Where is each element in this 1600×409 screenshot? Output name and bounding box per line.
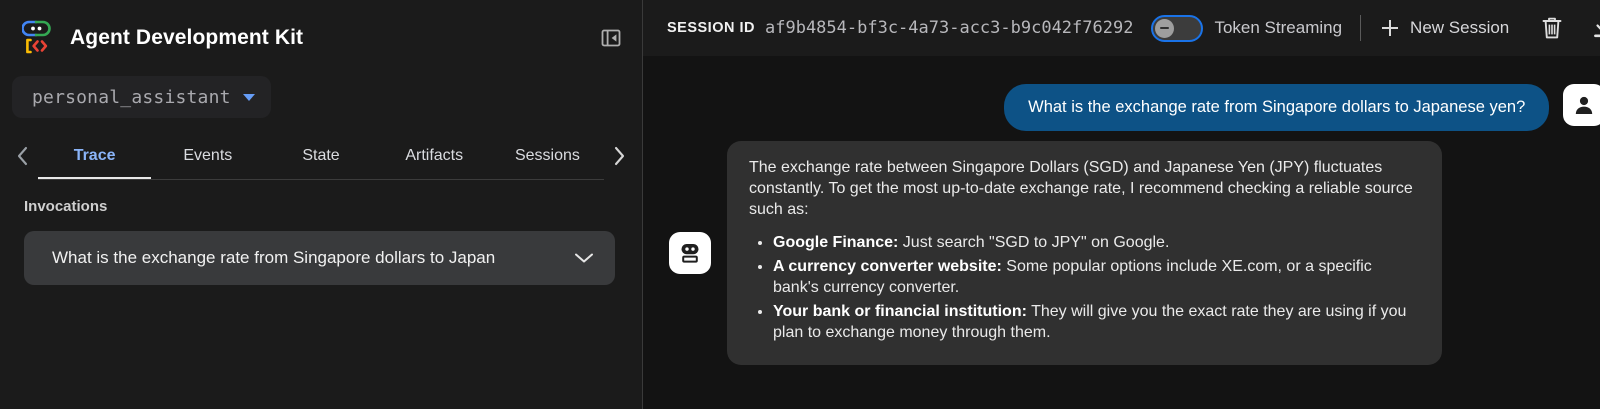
token-streaming-control: Token Streaming [1151, 15, 1342, 42]
tab-trace[interactable]: Trace [38, 132, 151, 180]
adk-robot-logo-icon [22, 18, 56, 58]
chat-header: SESSION ID af9b4854-bf3c-4a73-acc3-b9c04… [643, 0, 1600, 56]
collapse-left-panel-icon[interactable] [598, 25, 624, 51]
trash-icon[interactable] [1535, 11, 1569, 45]
list-item-lead: A currency converter website: [773, 258, 1002, 275]
token-streaming-label: Token Streaming [1214, 18, 1342, 38]
list-item: A currency converter website: Some popul… [773, 256, 1420, 298]
agent-selector[interactable]: personal_assistant [12, 76, 271, 118]
tab-artifacts[interactable]: Artifacts [378, 132, 491, 180]
list-item-lead: Google Finance: [773, 234, 898, 251]
tabs-underline [38, 179, 604, 180]
header-divider [1360, 15, 1361, 41]
bot-message-bubble: The exchange rate between Singapore Doll… [727, 141, 1442, 365]
new-session-label: New Session [1410, 18, 1509, 38]
invocation-list-item[interactable]: What is the exchange rate from Singapore… [24, 231, 615, 285]
agent-selector-value: personal_assistant [32, 87, 231, 108]
new-session-button[interactable]: New Session [1379, 17, 1509, 39]
brand: Agent Development Kit [22, 18, 598, 58]
message-list: What is the exchange rate from Singapore… [643, 56, 1600, 409]
list-item: Your bank or financial institution: They… [773, 301, 1420, 343]
invocation-label: What is the exchange rate from Singapore… [52, 248, 573, 268]
tab-state[interactable]: State [264, 132, 377, 180]
user-person-icon [1572, 93, 1596, 117]
download-icon[interactable] [1587, 11, 1600, 45]
list-item-rest: Just search "SGD to JPY" on Google. [898, 234, 1169, 251]
bot-avatar-slot [669, 232, 711, 274]
left-sidebar: Agent Development Kit personal_assistant [0, 0, 643, 409]
bot-message-bullet-list: Google Finance: Just search "SGD to JPY"… [749, 232, 1420, 344]
minus-icon [1155, 19, 1174, 38]
sidebar-header: Agent Development Kit [0, 0, 642, 76]
chevron-right-icon[interactable] [604, 132, 634, 180]
robot-icon [677, 240, 703, 266]
session-id-label: SESSION ID [667, 20, 755, 36]
sidebar-tabs: Trace Events State Artifacts Sessions [0, 132, 642, 180]
chat-panel: SESSION ID af9b4854-bf3c-4a73-acc3-b9c04… [643, 0, 1600, 409]
list-item-lead: Your bank or financial institution: [773, 303, 1027, 320]
chevron-down-icon[interactable] [573, 251, 595, 265]
user-message-row: What is the exchange rate from Singapore… [669, 84, 1600, 131]
invocations-section-label: Invocations [24, 198, 642, 215]
list-item: Google Finance: Just search "SGD to JPY"… [773, 232, 1420, 253]
tab-list: Trace Events State Artifacts Sessions [38, 132, 604, 180]
session-id-value: af9b4854-bf3c-4a73-acc3-b9c042f76292 [765, 18, 1133, 38]
user-message-bubble: What is the exchange rate from Singapore… [1004, 84, 1549, 131]
avatar [669, 232, 711, 274]
agent-selector-wrap: personal_assistant [0, 76, 642, 118]
chevron-left-icon[interactable] [8, 132, 38, 180]
tab-events[interactable]: Events [151, 132, 264, 180]
avatar [1563, 84, 1600, 126]
bot-message-row: The exchange rate between Singapore Doll… [669, 141, 1600, 365]
page-title: Agent Development Kit [70, 26, 303, 50]
bot-message-paragraph: The exchange rate between Singapore Doll… [749, 157, 1420, 220]
plus-icon [1379, 17, 1401, 39]
tab-sessions[interactable]: Sessions [491, 132, 604, 180]
token-streaming-toggle[interactable] [1151, 15, 1203, 42]
adk-dev-ui: Agent Development Kit personal_assistant [0, 0, 1600, 409]
caret-down-icon [243, 94, 255, 101]
